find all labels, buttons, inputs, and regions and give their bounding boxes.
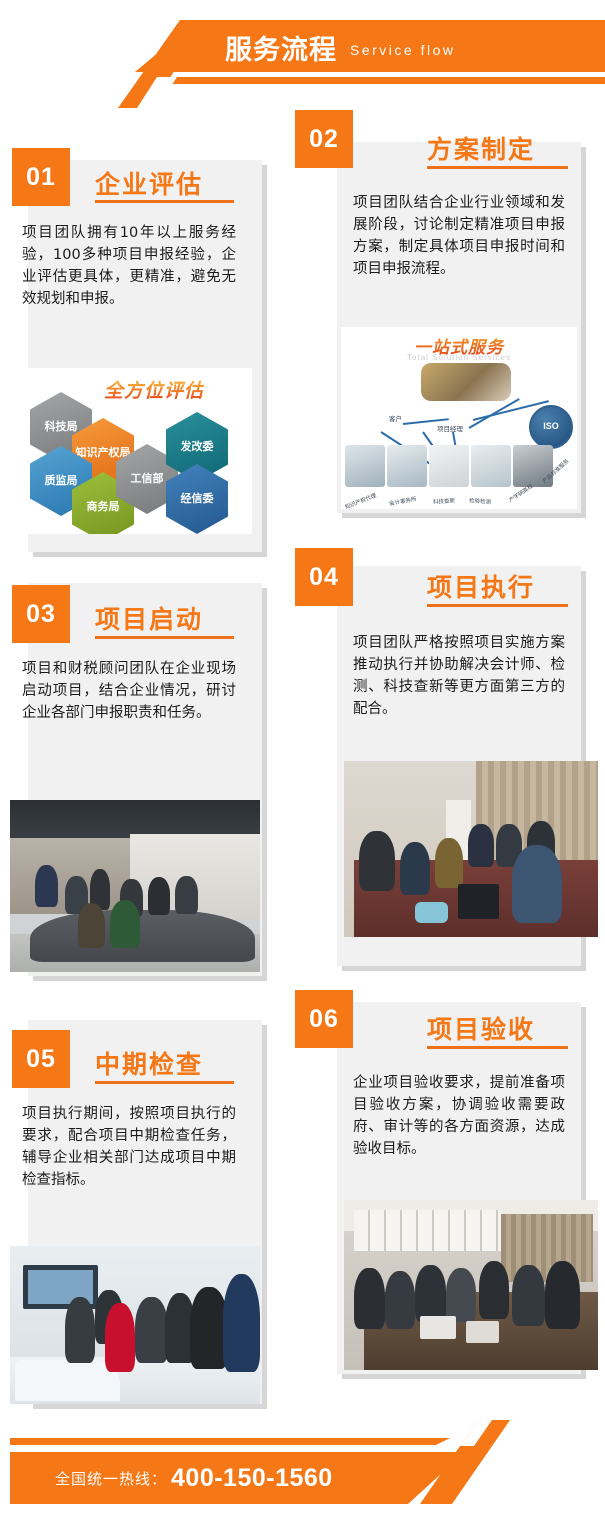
hotline-number: 400-150-1560 bbox=[171, 1464, 333, 1493]
card-04-title: 项目执行 bbox=[427, 568, 535, 604]
card-01-title-rule bbox=[95, 200, 234, 203]
card-04-title-rule bbox=[427, 604, 568, 607]
card-01-body: 项目团队拥有10年以上服务经验，100多种项目申报经验，企业评估更具体，更精准，… bbox=[22, 222, 236, 310]
one-stop-hero-photo bbox=[421, 363, 511, 401]
one-stop-label-2: 会计事务所 bbox=[389, 495, 417, 508]
card-03-title: 项目启动 bbox=[95, 600, 203, 636]
card-06-number-badge: 06 bbox=[295, 990, 353, 1048]
one-stop-thumb-3 bbox=[429, 445, 469, 487]
card-04-photo bbox=[344, 761, 598, 937]
page-header: 服务流程 Service flow bbox=[0, 0, 605, 108]
card-06-title-rule bbox=[427, 1046, 568, 1049]
footer-stripe bbox=[10, 1438, 450, 1445]
card-03-photo bbox=[10, 800, 260, 972]
one-stop-label-1: 知识产权代理 bbox=[344, 491, 378, 509]
card-02-title-rule bbox=[427, 166, 568, 169]
card-03-body: 项目和财税顾问团队在企业现场启动项目，结合企业情况，研讨企业各部门申报职责和任务… bbox=[22, 658, 236, 724]
card-03-number-badge: 03 bbox=[12, 585, 70, 643]
one-stop-thumb-4 bbox=[471, 445, 511, 487]
card-02-number-badge: 02 bbox=[295, 110, 353, 168]
one-stop-hub-manager: 项目经理 bbox=[437, 423, 463, 433]
hotline: 全国统一热线： 400-150-1560 bbox=[55, 1452, 333, 1504]
one-stop-thumb-2 bbox=[387, 445, 427, 487]
one-stop-thumb-1 bbox=[345, 445, 385, 487]
page-title: 服务流程 Service flow bbox=[225, 25, 455, 69]
card-03-title-rule bbox=[95, 636, 234, 639]
service-flow-poster: 服务流程 Service flow 01 企业评估 项目团队拥有10年以上服务经… bbox=[0, 0, 605, 1538]
card-06-title: 项目验收 bbox=[427, 1010, 535, 1046]
card-02-one-stop-diagram: 一站式服务 Total Solution Services 客户 项目经理 知识… bbox=[341, 327, 577, 509]
page-title-en: Service flow bbox=[350, 36, 455, 58]
card-05-photo bbox=[10, 1246, 260, 1404]
card-01-hex-diagram: 全方位评估 科技局 知识产权局 质监局 商务局 工信部 发改委 经信委 bbox=[20, 368, 252, 534]
card-05-body: 项目执行期间，按照项目执行的要求，配合项目中期检查任务，辅导企业相关部门达成项目… bbox=[22, 1103, 236, 1191]
card-05-title: 中期检查 bbox=[95, 1045, 203, 1081]
card-06-body: 企业项目验收要求，提前准备项目验收方案，协调验收需要政府、审计等的各方面资源，达… bbox=[353, 1072, 565, 1160]
iso-badge-icon bbox=[529, 405, 573, 449]
header-stripe bbox=[150, 77, 605, 84]
card-01-number-badge: 01 bbox=[12, 148, 70, 206]
one-stop-heading-en: Total Solution Services bbox=[341, 353, 577, 362]
page-title-cn: 服务流程 bbox=[225, 28, 337, 67]
one-stop-label-3: 科技查新 bbox=[433, 496, 456, 506]
card-04-body: 项目团队严格按照项目实施方案推动执行并协助解决会计师、检测、科技查新等更方面第三… bbox=[353, 632, 565, 720]
one-stop-label-4: 检验检测 bbox=[469, 496, 492, 506]
hex-diagram-heading: 全方位评估 bbox=[104, 376, 204, 403]
one-stop-hub-customer: 客户 bbox=[389, 413, 402, 423]
card-02-body: 项目团队结合企业行业领域和发展阶段，讨论制定精准项目申报方案，制定具体项目申报时… bbox=[353, 192, 565, 280]
card-01-title: 企业评估 bbox=[95, 165, 203, 201]
card-05-number-badge: 05 bbox=[12, 1030, 70, 1088]
card-05-title-rule bbox=[95, 1081, 234, 1084]
card-04-number-badge: 04 bbox=[295, 548, 353, 606]
card-06-photo bbox=[344, 1200, 598, 1370]
hotline-label: 全国统一热线： bbox=[55, 1468, 167, 1489]
card-02-title: 方案制定 bbox=[427, 130, 535, 166]
